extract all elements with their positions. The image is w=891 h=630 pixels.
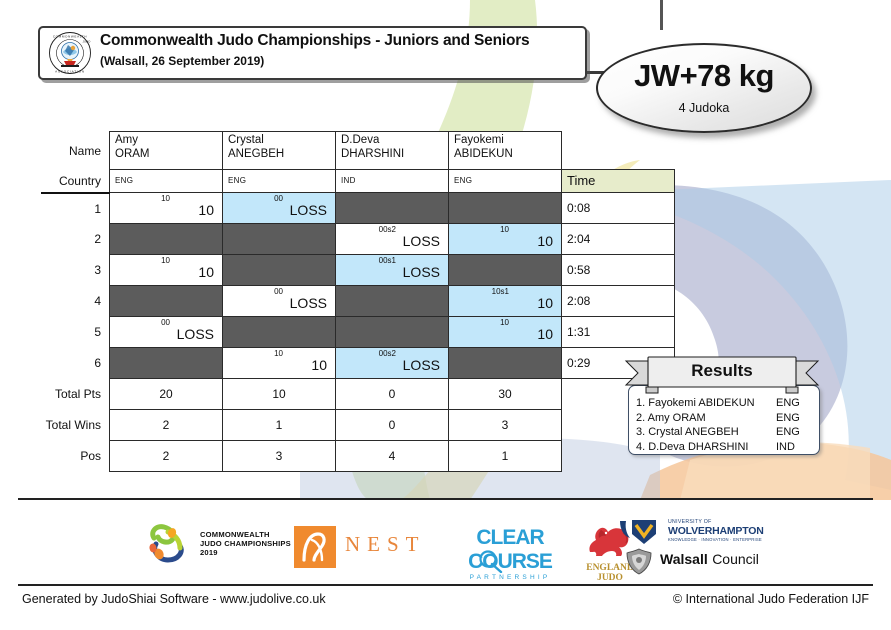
match-result-cell: 00LOSS — [110, 317, 223, 348]
match-result-value: 10 — [537, 233, 553, 249]
match-number-label: 5 — [41, 317, 110, 348]
match-result-cell: 1010 — [449, 224, 562, 255]
competitor-last-name: ORAM — [115, 148, 150, 160]
page-subtitle: (Walsall, 26 September 2019) — [100, 54, 264, 68]
competitor-name-cell: AmyORAM — [110, 132, 223, 170]
match-result-cell — [223, 255, 336, 286]
match-time-cell: 2:08 — [562, 286, 675, 317]
match-result-cell: 00LOSS — [223, 286, 336, 317]
competitor-name-cell: CrystalANEGBEH — [223, 132, 336, 170]
match-result-cell — [336, 286, 449, 317]
match-result-cell — [223, 317, 336, 348]
match-time-value: 1:31 — [567, 325, 590, 339]
competitor-last-name: ANEGBEH — [228, 148, 284, 160]
clearcourse-logo: CLEAR COURSE PARTNERSHIP — [455, 526, 565, 581]
total-wins-cell: 1 — [223, 410, 336, 441]
country-code: IND — [341, 176, 356, 185]
match-result-cell: 00s2LOSS — [336, 224, 449, 255]
match-result-cell — [449, 348, 562, 379]
match-result-value: 10 — [311, 357, 327, 373]
cjc-wordmark: COMMONWEALTH JUDO CHAMPIONSHIPS 2019 — [200, 530, 291, 558]
country-code: ENG — [228, 176, 246, 185]
total-wins-cell-value: 1 — [223, 412, 335, 438]
wolverhampton-tagline: KNOWLEDGE · INNOVATION · ENTERPRISE — [668, 537, 764, 542]
competitor-first-name: Fayokemi — [454, 134, 504, 146]
match-number-label: 1 — [41, 193, 110, 224]
walsall-bold-text: Walsall — [660, 551, 708, 567]
results-panel: Results 1. Fayokemi ABIDEKUNENG2. Amy OR… — [622, 355, 822, 455]
pool-table-body: NameAmyORAMCrystalANEGBEHD.DevaDHARSHINI… — [41, 132, 675, 472]
weight-category-badge: JW+78 kg 4 Judoka — [596, 43, 812, 133]
total-points-cell-value: 10 — [223, 381, 335, 407]
match-result-value: LOSS — [403, 233, 440, 249]
row-label-name: Name — [41, 132, 110, 170]
cjc-line-3: 2019 — [200, 548, 291, 557]
match-score-detail: 00 — [274, 194, 283, 203]
results-entry-country: IND — [776, 441, 795, 453]
match-time-value: 2:08 — [567, 294, 590, 308]
wolverhampton-name: WOLVERHAMPTON — [668, 525, 764, 537]
weight-category-label: JW+78 kg — [598, 58, 810, 94]
match-row: 3101000s1LOSS0:58 — [41, 255, 675, 286]
match-result-cell — [110, 286, 223, 317]
match-result-value: 10 — [198, 264, 214, 280]
results-entry-country: ENG — [776, 426, 800, 438]
match-result-cell: 1010 — [449, 317, 562, 348]
results-entry-name: 4. D.Deva DHARSHINI — [636, 441, 748, 453]
commonwealth-judo-association-emblem-icon: COMMONWEALTH ASSOCIATION JUDO — [48, 31, 92, 75]
row-label-country: Country — [41, 170, 110, 193]
results-entry-name: 1. Fayokemi ABIDEKUN — [636, 397, 755, 409]
footer-generated-by: Generated by JudoShiai Software - www.ju… — [22, 592, 326, 606]
clearcourse-line-3: PARTNERSHIP — [455, 574, 565, 581]
footer-copyright: © International Judo Federation IJF — [673, 592, 869, 606]
competitor-country-cell: IND — [336, 170, 449, 193]
total-points-cell: 0 — [336, 379, 449, 410]
results-entry: 3. Crystal ANEGBEHENG — [636, 426, 816, 441]
match-score-detail: 00s2 — [379, 349, 396, 358]
match-result-cell: 1010 — [110, 193, 223, 224]
header-connector-vertical — [660, 0, 663, 30]
match-row: 500LOSS10101:31 — [41, 317, 675, 348]
competitor-last-name: DHARSHINI — [341, 148, 404, 160]
match-score-detail: 10 — [161, 194, 170, 203]
match-time-cell: 1:31 — [562, 317, 675, 348]
results-entry-name: 2. Amy ORAM — [636, 412, 706, 424]
match-result-cell: 00s1LOSS — [336, 255, 449, 286]
match-result-value: 10 — [537, 295, 553, 311]
sponsor-logos: COMMONWEALTH JUDO CHAMPIONSHIPS 2019 NES… — [18, 506, 873, 584]
country-code: ENG — [115, 176, 133, 185]
match-score-detail: 10 — [500, 318, 509, 327]
sponsor-band-top-divider — [18, 498, 873, 500]
results-title: Results — [622, 361, 822, 381]
results-entry: 4. D.Deva DHARSHINIIND — [636, 441, 816, 456]
svg-text:JUDO: JUDO — [83, 40, 92, 44]
position-cell-value: 1 — [449, 443, 561, 469]
competitor-first-name: Amy — [115, 134, 138, 146]
match-result-cell — [110, 224, 223, 255]
match-row: 200s2LOSS10102:04 — [41, 224, 675, 255]
competitor-first-name: D.Deva — [341, 134, 379, 146]
competitor-name-cell: D.DevaDHARSHINI — [336, 132, 449, 170]
match-score-detail: 00s1 — [379, 256, 396, 265]
match-number-label: 4 — [41, 286, 110, 317]
match-result-cell — [449, 255, 562, 286]
competitor-country-cell: ENG — [223, 170, 336, 193]
total-wins-cell: 0 — [336, 410, 449, 441]
results-entry: 2. Amy ORAMENG — [636, 412, 816, 427]
match-result-value: LOSS — [290, 295, 327, 311]
total-wins-row: Total Wins2103 — [41, 410, 675, 441]
total-points-cell: 20 — [110, 379, 223, 410]
row-label-total-points: Total Pts — [41, 379, 110, 410]
results-entry-country: ENG — [776, 412, 800, 424]
competitor-country-cell: ENG — [449, 170, 562, 193]
wolverhampton-crest-icon — [618, 518, 664, 546]
time-header-cell: Time — [562, 170, 675, 193]
total-wins-cell-value: 3 — [449, 412, 561, 438]
match-score-detail: 10s1 — [492, 287, 509, 296]
position-cell: 4 — [336, 441, 449, 472]
svg-text:COMMONWEALTH: COMMONWEALTH — [53, 34, 87, 38]
total-points-cell: 10 — [223, 379, 336, 410]
cjc-2019-logo-mark-icon — [146, 520, 192, 570]
match-number-label: 2 — [41, 224, 110, 255]
total-wins-cell: 2 — [110, 410, 223, 441]
match-time-value: 0:08 — [567, 201, 590, 215]
name-row: NameAmyORAMCrystalANEGBEHD.DevaDHARSHINI… — [41, 132, 675, 170]
match-result-cell: 10s110 — [449, 286, 562, 317]
match-row: 6101000s2LOSS0:29 — [41, 348, 675, 379]
header-box: COMMONWEALTH ASSOCIATION JUDO Commonweal… — [38, 26, 587, 80]
total-points-cell: 30 — [449, 379, 562, 410]
nest-logo-mark-icon — [294, 526, 336, 573]
competitor-name-cell: FayokemiABIDEKUN — [449, 132, 562, 170]
results-entry-name: 3. Crystal ANEGBEH — [636, 426, 739, 438]
match-number-label: 3 — [41, 255, 110, 286]
judo-results-page: COMMONWEALTH ASSOCIATION JUDO Commonweal… — [0, 0, 891, 630]
competitor-first-name: Crystal — [228, 134, 264, 146]
walsall-light-text: Council — [712, 551, 759, 567]
position-cell-value: 4 — [336, 443, 448, 469]
clearcourse-line-1: CLEAR — [455, 526, 565, 550]
total-points-cell-value: 20 — [110, 381, 222, 407]
position-row: Pos2341 — [41, 441, 675, 472]
match-result-value: LOSS — [177, 326, 214, 342]
clearcourse-line-2: COURSE — [455, 550, 565, 574]
match-result-value: 10 — [537, 326, 553, 342]
match-row: 400LOSS10s1102:08 — [41, 286, 675, 317]
results-entry: 1. Fayokemi ABIDEKUNENG — [636, 397, 816, 412]
match-time-cell: 0:58 — [562, 255, 675, 286]
svg-text:ASSOCIATION: ASSOCIATION — [55, 69, 85, 73]
competitor-last-name: ABIDEKUN — [454, 148, 513, 160]
match-time-value: 2:04 — [567, 232, 590, 246]
match-number-label: 6 — [41, 348, 110, 379]
nest-wordmark: NEST — [345, 532, 426, 557]
cjc-line-2: JUDO CHAMPIONSHIPS — [200, 539, 291, 548]
name-row-spacer — [562, 132, 675, 170]
total-points-cell-value: 0 — [336, 381, 448, 407]
total-wins-cell: 3 — [449, 410, 562, 441]
walsall-crest-icon — [624, 548, 654, 576]
match-result-value: LOSS — [403, 264, 440, 280]
match-row: 1101000LOSS0:08 — [41, 193, 675, 224]
row-label-position: Pos — [41, 441, 110, 472]
position-cell: 3 — [223, 441, 336, 472]
position-cell-value: 3 — [223, 443, 335, 469]
match-score-detail: 10 — [500, 225, 509, 234]
results-list: 1. Fayokemi ABIDEKUNENG2. Amy ORAMENG3. … — [636, 397, 816, 455]
total-points-row: Total Pts2010030 — [41, 379, 675, 410]
pool-table: NameAmyORAMCrystalANEGBEHD.DevaDHARSHINI… — [41, 131, 675, 472]
cjc-line-1: COMMONWEALTH — [200, 530, 291, 539]
magnifier-icon — [477, 549, 503, 573]
total-points-cell-value: 30 — [449, 381, 561, 407]
pool-table-wrapper: NameAmyORAMCrystalANEGBEHD.DevaDHARSHINI… — [41, 131, 675, 472]
country-row: CountryENGENGINDENGTime — [41, 170, 675, 193]
match-result-cell: 00s2LOSS — [336, 348, 449, 379]
match-result-cell: 00LOSS — [223, 193, 336, 224]
match-result-cell — [110, 348, 223, 379]
country-code: ENG — [454, 176, 472, 185]
time-header-label: Time — [567, 173, 595, 188]
match-result-value: 10 — [198, 202, 214, 218]
page-title: Commonwealth Judo Championships - Junior… — [100, 32, 529, 50]
match-result-cell — [223, 224, 336, 255]
match-score-detail: 00s2 — [379, 225, 396, 234]
match-time-value: 0:58 — [567, 263, 590, 277]
sponsor-band-bottom-divider — [18, 584, 873, 586]
row-label-total-wins: Total Wins — [41, 410, 110, 441]
match-result-cell — [449, 193, 562, 224]
match-result-cell: 1010 — [223, 348, 336, 379]
match-time-value: 0:29 — [567, 356, 590, 370]
match-score-detail: 00 — [161, 318, 170, 327]
position-cell-value: 2 — [110, 443, 222, 469]
match-score-detail: 10 — [161, 256, 170, 265]
match-time-cell: 0:08 — [562, 193, 675, 224]
match-result-value: LOSS — [403, 357, 440, 373]
match-result-cell: 1010 — [110, 255, 223, 286]
match-score-detail: 10 — [274, 349, 283, 358]
position-cell: 2 — [110, 441, 223, 472]
match-score-detail: 00 — [274, 287, 283, 296]
total-wins-cell-value: 0 — [336, 412, 448, 438]
total-wins-cell-value: 2 — [110, 412, 222, 438]
match-result-cell — [336, 317, 449, 348]
position-cell: 1 — [449, 441, 562, 472]
judoka-count-label: 4 Judoka — [598, 101, 810, 115]
match-result-cell — [336, 193, 449, 224]
results-entry-country: ENG — [776, 397, 800, 409]
match-time-cell: 2:04 — [562, 224, 675, 255]
competitor-country-cell: ENG — [110, 170, 223, 193]
match-result-value: LOSS — [290, 202, 327, 218]
